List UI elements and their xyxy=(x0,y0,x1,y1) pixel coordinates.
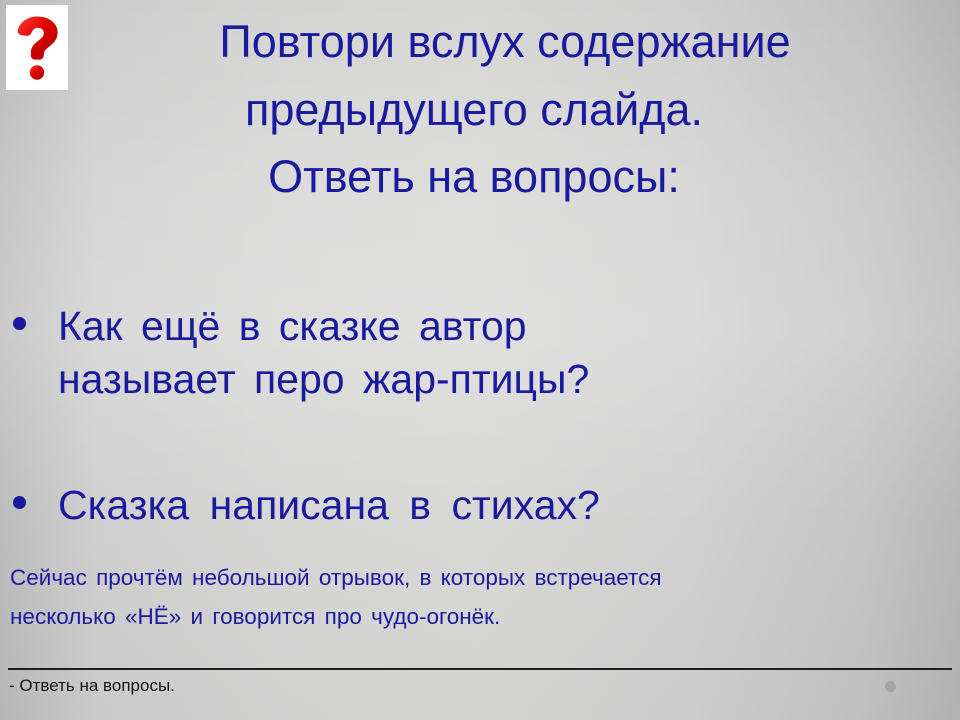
note-line-1: Сейчас прочтём небольшой отрывок, в кото… xyxy=(10,558,956,597)
footer-note: - Ответь на вопросы. xyxy=(9,676,175,696)
bullet-dot-icon xyxy=(13,317,26,330)
slide-canvas: Повтори вслух содержание предыдущего сла… xyxy=(0,0,960,720)
list-item-line-2: называет перо жар-птицы? xyxy=(58,353,960,406)
list-item: Сказка написана в стихах? xyxy=(0,479,960,532)
note-paragraph: Сейчас прочтём небольшой отрывок, в кото… xyxy=(10,558,956,637)
footer-divider xyxy=(8,668,952,670)
note-line-2: несколько «НЁ» и говорится про чудо-огон… xyxy=(10,597,956,636)
list-item: Как ещё в сказке автор называет перо жар… xyxy=(0,300,960,407)
bullet-dot-icon xyxy=(13,496,26,509)
title-line-2: предыдущего слайда. xyxy=(8,76,940,144)
question-list: Как ещё в сказке автор называет перо жар… xyxy=(0,300,960,532)
footer-dot-icon xyxy=(885,681,896,692)
list-item-line-1: Сказка написана в стихах? xyxy=(58,479,960,532)
list-item-line-1: Как ещё в сказке автор xyxy=(58,300,960,353)
title-line-1: Повтори вслух содержание xyxy=(70,8,940,76)
title-line-3: Ответь на вопросы: xyxy=(8,143,940,211)
page-title: Повтори вслух содержание предыдущего сла… xyxy=(70,8,940,211)
